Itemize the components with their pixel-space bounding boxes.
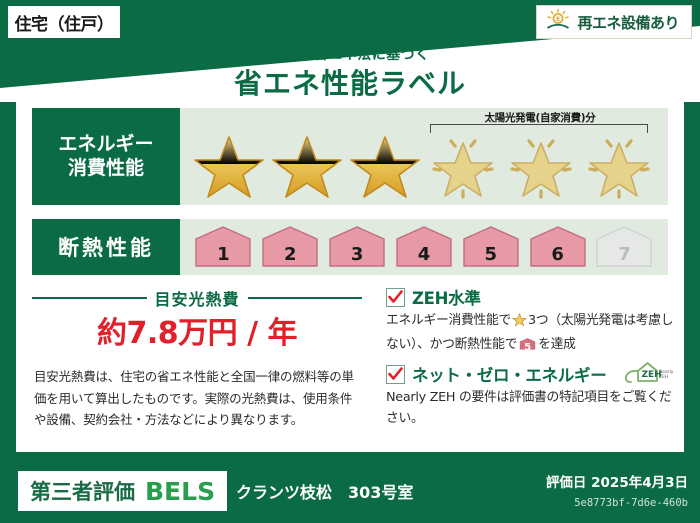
star-icon [348, 133, 422, 199]
house-icon-grade: 2 [259, 225, 321, 269]
label-title: 省エネ性能ラベル [0, 62, 700, 102]
rule-right [248, 297, 363, 299]
house-icon-grade-inactive: 7 [593, 225, 655, 269]
renewable-badge-label: 再エネ設備あり [577, 12, 679, 33]
claims-section: ZEH水準 エネルギー消費性能で 3つ（太陽光発電は考慮しない）、かつ断熱性能で… [386, 286, 678, 438]
bels-certification-tag: 第三者評価 BELS [18, 471, 227, 511]
house-icon-grade: 5 [460, 225, 522, 269]
third-party-label: 第三者評価 [30, 476, 135, 506]
energy-performance-label: 住宅（住戸） E 再エネ設備あり 建築物省エネ法に基づく 省エネ性能ラベル [0, 0, 700, 523]
utility-cost-label: 目安光熱費 [155, 286, 240, 310]
house-icon-grade: 6 [527, 225, 589, 269]
claim-net-zero-energy: ネット・ゼロ・エネルギー ZEH Nearly ZEH Nearly ZEH の… [386, 363, 678, 429]
insulation-performance-label: 断熱性能 [32, 219, 180, 275]
utility-cost-note: 目安光熱費は、住宅の省エネ性能と全国一律の燃料等の単価を用いて算出したものです。… [34, 366, 364, 431]
checkbox-checked[interactable] [386, 365, 405, 384]
evaluation-id: 5e8773bf-7d6e-460b [574, 497, 688, 509]
house-icon-grade: 4 [393, 225, 455, 269]
star-icon-solar [582, 133, 656, 199]
claim-body-part3: を達成 [538, 337, 576, 352]
rule-left [32, 297, 147, 299]
nearly-zeh-logo: ZEH Nearly ZEH [616, 358, 674, 390]
renewable-energy-badge: E 再エネ設備あり [536, 5, 692, 39]
grade-number: 3 [326, 244, 388, 265]
grade-number: 7 [593, 244, 655, 265]
star-icon [270, 133, 344, 199]
claim-body-part1: エネルギー消費性能で [386, 313, 511, 328]
evaluation-date: 評価日 2025年4月3日 [546, 471, 688, 491]
star-icon-inline [512, 312, 527, 335]
insulation-performance-row: 断熱性能 1 2 3 [32, 219, 668, 275]
building-type-tag: 住宅（住戸） [6, 4, 122, 40]
inline-house-number: 5 [519, 340, 536, 356]
claim-body: Nearly ZEH の要件は評価書の特記項目をご覧ください。 [386, 388, 678, 429]
star-icon-solar [426, 133, 500, 199]
claim-header: ネット・ゼロ・エネルギー ZEH Nearly ZEH [386, 363, 678, 385]
property-name: クランツ枝松 303号室 [236, 479, 413, 503]
grade-number: 6 [527, 244, 589, 265]
solar-generation-note: 太陽光発電(自家消費)分 [424, 110, 656, 125]
utility-cost-value: 約7.8万円 / 年 [32, 308, 362, 352]
claim-header: ZEH水準 [386, 286, 678, 308]
star-icon [192, 133, 266, 199]
solar-sun-icon: E [545, 8, 571, 36]
svg-text:E: E [556, 16, 560, 23]
checkbox-checked[interactable] [386, 288, 405, 307]
energy-consumption-label: エネルギー 消費性能 [32, 108, 180, 205]
check-icon [388, 290, 403, 305]
house-icon-inline: 5 [519, 336, 536, 352]
claim-zeh-standard: ZEH水準 エネルギー消費性能で 3つ（太陽光発電は考慮しない）、かつ断熱性能で… [386, 286, 678, 355]
grade-number: 2 [259, 244, 321, 265]
grade-number: 4 [393, 244, 455, 265]
bels-logo-text: BELS [145, 477, 215, 506]
utility-cost-heading: 目安光熱費 [32, 286, 362, 310]
star-icon-solar [504, 133, 578, 199]
claim-body: エネルギー消費性能で 3つ（太陽光発電は考慮しない）、かつ断熱性能で 5を達成 [386, 311, 678, 355]
grade-number: 5 [460, 244, 522, 265]
claim-title: ネット・ゼロ・エネルギー [412, 362, 606, 386]
claim-title: ZEH水準 [412, 285, 481, 309]
svg-text:ZEH: ZEH [659, 374, 668, 380]
house-icon-grade: 3 [326, 225, 388, 269]
check-icon [388, 367, 403, 382]
insulation-grade-scale: 1 2 3 4 [180, 219, 668, 275]
label-subtitle: 建築物省エネ法に基づく [0, 44, 700, 64]
house-icon-grade: 1 [192, 225, 254, 269]
solar-bracket [430, 124, 648, 133]
grade-number: 1 [192, 244, 254, 265]
